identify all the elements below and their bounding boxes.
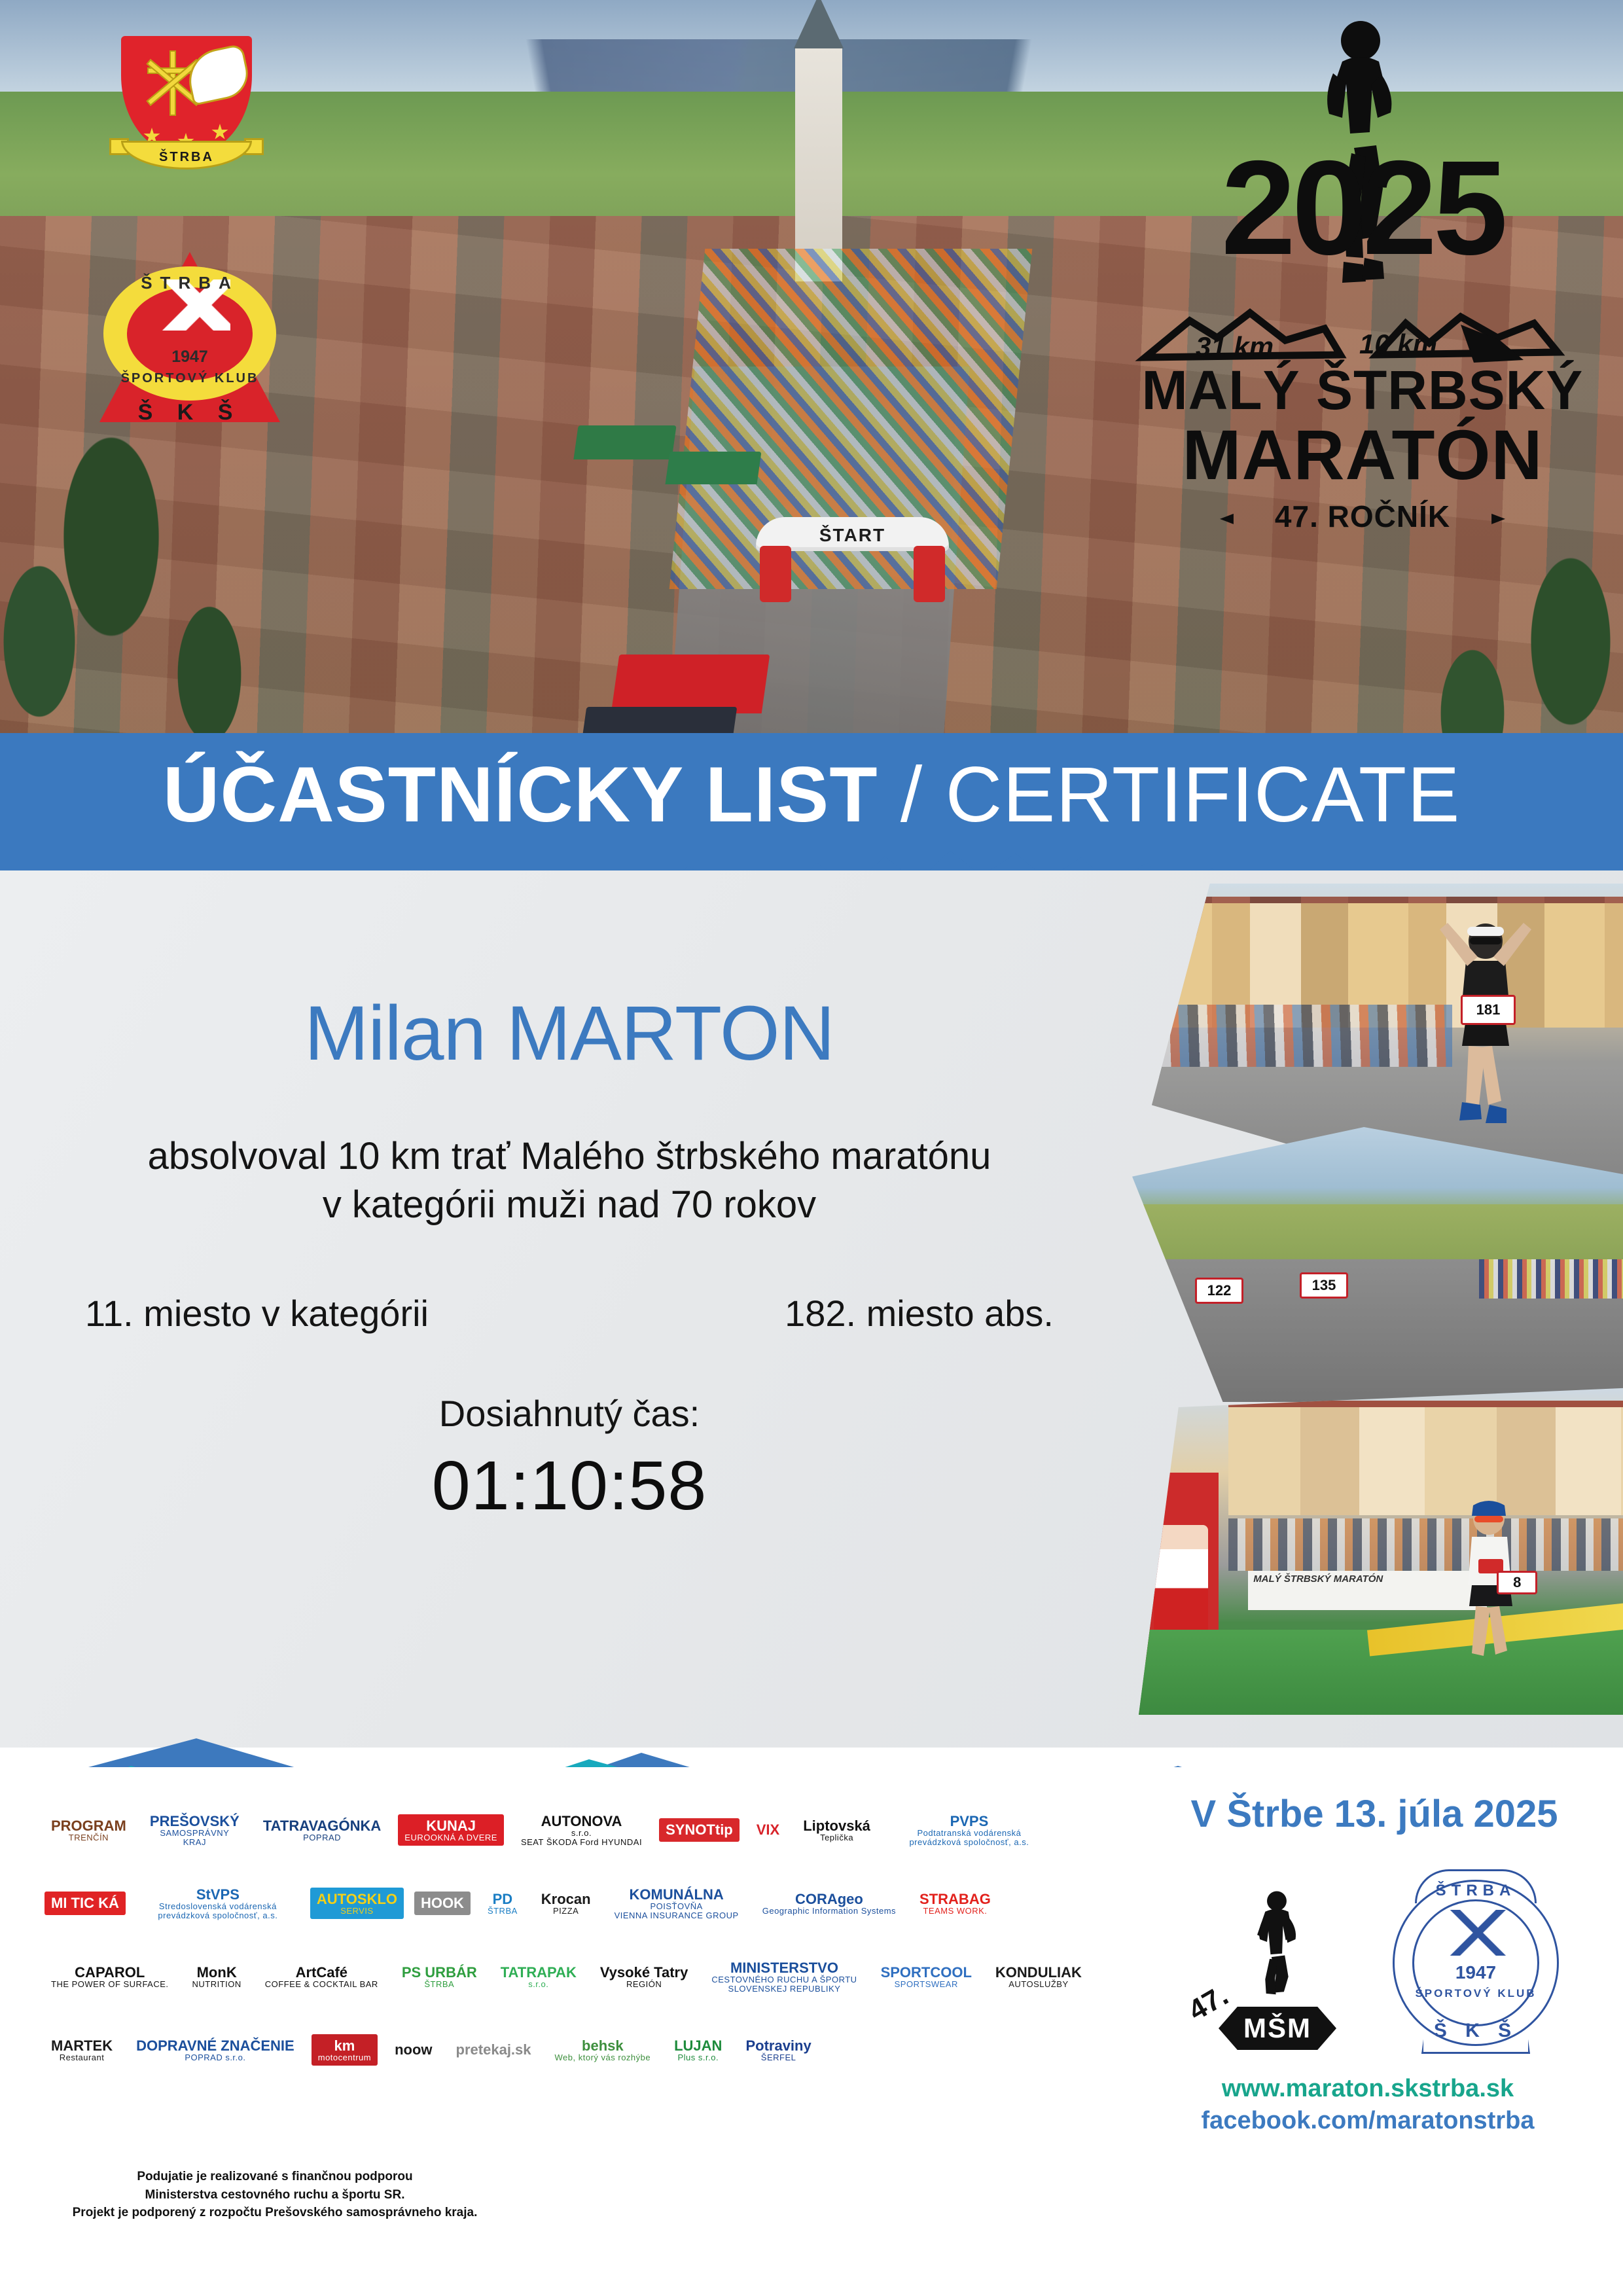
certificate-description: absolvoval 10 km trať Malého štrbského m… (0, 1132, 1139, 1229)
sponsor-name: VIX (757, 1822, 779, 1837)
distance-short-label: 10 km (1359, 329, 1437, 360)
sponsor-name: SYNOTtip (666, 1822, 733, 1837)
sks-club-logo: ŠTRBA 1947 ŠPORTOVÝ KLUB Š K Š (98, 232, 281, 435)
sponsor-tagline: SERVIS (317, 1907, 397, 1916)
facebook-link[interactable]: facebook.com/maratonstrba (1152, 2107, 1584, 2135)
sponsor-logo: MonKNUTRITION (186, 1943, 248, 2011)
arch-leg-left (760, 546, 791, 602)
sponsor-logo: PROGRAMTRENČÍN (45, 1796, 133, 1864)
club-year-label: 1947 (98, 348, 281, 367)
sponsor-logo: KONDULIAKAUTOSLUŽBY (989, 1943, 1088, 2011)
crest-shield (121, 36, 252, 154)
arrow-left-icon (1220, 514, 1266, 524)
sponsor-name: HOOK (421, 1895, 464, 1910)
stamp-top-arc: ŠTRBA (1415, 1869, 1537, 1903)
sponsor-name: PREŠOVSKÝ (150, 1814, 240, 1829)
sponsor-tagline: EUROOKNÁ A DVERE (404, 1833, 497, 1842)
sponsor-tagline: SAMOSPRÁVNY (150, 1829, 240, 1838)
sponsor-name: LUJAN (674, 2038, 722, 2053)
sponsor-logo: TATRAPAKs.r.o. (494, 1943, 583, 2011)
female-runner-figure (1433, 915, 1538, 1151)
footer: PROGRAMTRENČÍNPREŠOVSKÝSAMOSPRÁVNYKRAJTA… (0, 1767, 1623, 2296)
sponsor-name: MINISTERSTVO (711, 1960, 857, 1975)
club-bottom-label: ŠPORTOVÝ KLUB (98, 371, 281, 386)
sponsor-name: SPORTCOOL (881, 1965, 972, 1980)
sponsor-name: MonK (192, 1965, 241, 1980)
event-year: 2025 (1133, 151, 1592, 266)
event-title-line1: MALÝ ŠTRBSKÝ (1133, 359, 1592, 422)
msm-runner-icon (1222, 1872, 1334, 2009)
contact-links: www.maraton.skstrba.sk facebook.com/mara… (1152, 2075, 1584, 2135)
sponsor-logo: VIX (750, 1796, 786, 1864)
disclaimer-line-2: Ministerstva cestovného ruchu a športu S… (46, 2186, 504, 2204)
participant-name: Milan MARTON (0, 995, 1139, 1072)
finish-time: 01:10:58 (0, 1446, 1139, 1526)
strba-coat-of-arms: ŠTRBA (111, 36, 262, 219)
sponsor-tagline: s.r.o. (521, 1829, 642, 1838)
sponsor-logo: TATRAVAGÓNKAPOPRAD (257, 1796, 387, 1864)
sponsor-name: TATRAVAGÓNKA (263, 1818, 381, 1833)
sponsor-logo: PS URBÁRŠTRBA (395, 1943, 484, 2011)
sponsor-name: KONDULIAK (995, 1965, 1082, 1980)
sponsor-subtagline: VIENNA INSURANCE GROUP (615, 1911, 739, 1920)
sponsor-tagline: SPORTSWEAR (881, 1980, 972, 1989)
sponsor-name: MARTEK (51, 2038, 113, 2053)
sponsor-name: PD (488, 1892, 518, 1907)
stamp-mountain-icon (1443, 1910, 1508, 1956)
sponsor-logo: behskWeb, ktorý vás rozhýbe (548, 2016, 658, 2084)
sponsor-name: MI TIC KÁ (51, 1895, 119, 1910)
sponsor-logo: KOMUNÁLNAPOISŤOVŇAVIENNA INSURANCE GROUP (608, 1869, 745, 1937)
sponsor-logo: ArtCaféCOFFEE & COCKTAIL BAR (259, 1943, 385, 2011)
sponsor-name: Krocan (541, 1892, 591, 1907)
church-spire (794, 0, 844, 48)
msm-stamp-mark: MŠM (1219, 2007, 1336, 2050)
sponsor-tagline: Geographic Information Systems (762, 1907, 896, 1916)
club-top-label: ŠTRBA (98, 273, 281, 293)
funding-disclaimer: Podujatie je realizované s finančnou pod… (46, 2168, 504, 2222)
collage-bib-181: 181 (1461, 995, 1516, 1025)
disclaimer-line-3: Projekt je podporený z rozpočtu Prešovsk… (46, 2204, 504, 2222)
title-light: CERTIFICATE (946, 751, 1461, 838)
sponsor-logo: MI TIC KÁ (45, 1869, 126, 1937)
photo2-runner-pack (1479, 1259, 1623, 1299)
sponsor-logo: KrocanPIZZA (535, 1869, 597, 1937)
sponsor-tagline: Plus s.r.o. (674, 2053, 722, 2062)
event-title-line2: MARATÓN (1133, 414, 1592, 495)
sponsor-tagline: Stredoslovenská vodárenská prevádzková s… (143, 1902, 293, 1920)
sponsor-logo: DOPRAVNÉ ZNAČENIEPOPRAD s.r.o. (130, 2016, 301, 2084)
sponsor-name: ArtCafé (265, 1965, 378, 1980)
stamp-year-label: 1947 (1381, 1962, 1571, 1983)
sponsor-logo: CAPAROLTHE POWER OF SURFACE. (45, 1943, 175, 2011)
sponsor-tagline: Podtatranská vodárenská prevádzková spol… (894, 1829, 1044, 1846)
event-edition: 47. ROČNÍK (1133, 499, 1592, 534)
sponsor-name: pretekaj.sk (456, 2042, 531, 2057)
collage-photo-winner: MALÝ ŠTRBSKÝ MARATÓN 8 (1139, 1388, 1623, 1715)
stamp-club-label: ŠPORTOVÝ KLUB (1381, 1987, 1571, 2000)
sponsor-logo: LUJANPlus s.r.o. (668, 2016, 728, 2084)
rank-row: 11. miesto v kategórii 182. miesto abs. (0, 1292, 1139, 1335)
sponsor-tagline: POISŤOVŇA (615, 1902, 739, 1911)
page-title: ÚČASTNÍCKY LIST / CERTIFICATE (0, 755, 1623, 834)
sponsor-name: PROGRAM (51, 1818, 126, 1833)
sponsor-name: STRABAG (919, 1892, 991, 1907)
sponsor-tagline: AUTOSLUŽBY (995, 1980, 1082, 1989)
tent-green-1 (573, 425, 676, 459)
arrow-right-icon (1459, 514, 1505, 524)
sponsor-logo: PREŠOVSKÝSAMOSPRÁVNYKRAJ (143, 1796, 246, 1864)
sponsor-logo: PVPSPodtatranská vodárenská prevádzková … (887, 1796, 1051, 1864)
sponsor-logo: noow (388, 2016, 438, 2084)
sponsor-name: CAPAROL (51, 1965, 169, 1980)
sponsor-name: PS URBÁR (402, 1965, 477, 1980)
sponsor-subtagline: SLOVENSKEJ REPUBLIKY (711, 1984, 857, 1994)
photo-collage: 181 122 135 MALÝ ŠTRBSKÝ MARATÓN (1126, 884, 1623, 1715)
stamp-footer-shape: Š K Š (1421, 2005, 1530, 2054)
sponsor-tagline: motocentrum (318, 2053, 371, 2062)
sponsor-logo: CORAgeoGeographic Information Systems (756, 1869, 902, 1937)
start-arch: ŠTART (756, 517, 949, 602)
distance-long-label: 31 km (1196, 331, 1274, 363)
sponsor-logo: PotravinyŠERFEL (739, 2016, 817, 2084)
sponsor-tagline: COFFEE & COCKTAIL BAR (265, 1980, 378, 1989)
sks-club-stamp: ŠTRBA 1947 ŠPORTOVÝ KLUB Š K Š (1381, 1865, 1571, 2062)
description-line-1: absolvoval 10 km trať Malého štrbského m… (0, 1132, 1139, 1181)
certificate-content: Milan MARTON absolvoval 10 km trať Maléh… (0, 995, 1139, 1526)
event-logo: 2025 31 km 10 km MALÝ ŠTRBSKÝ MARATÓN 47… (1133, 13, 1592, 602)
official-stamps: 47. MŠM ŠTRBA 1947 ŠPORTOVÝ KLUB Š K Š (1165, 1865, 1584, 2062)
sponsor-tagline: THE POWER OF SURFACE. (51, 1980, 169, 1989)
rank-absolute: 182. miesto abs. (785, 1292, 1054, 1335)
sponsor-logo: AUTONOVAs.r.o.SEAT ŠKODA Ford HYUNDAI (514, 1796, 649, 1864)
disclaimer-line-1: Podujatie je realizované s finančnou pod… (46, 2168, 504, 2186)
description-line-2: v kategórii muži nad 70 rokov (0, 1181, 1139, 1229)
sponsor-tagline: ŠTRBA (488, 1907, 518, 1916)
photo3-crowd (1228, 1518, 1623, 1571)
sponsor-tagline: Restaurant (51, 2053, 113, 2062)
sponsor-tagline: TRENČÍN (51, 1833, 126, 1842)
sponsor-tagline: POPRAD (263, 1833, 381, 1842)
sponsor-subtagline: KRAJ (150, 1838, 240, 1847)
sponsor-name: KOMUNÁLNA (615, 1887, 739, 1902)
sponsor-logo: Vysoké TatryREGIÓN (594, 1943, 695, 2011)
rank-category: 11. miesto v kategórii (85, 1292, 429, 1335)
sponsor-tagline: ŠTRBA (402, 1980, 477, 1989)
sponsor-name: Potraviny (745, 2038, 811, 2053)
stamp-top-label: ŠTRBA (1417, 1882, 1535, 1900)
sponsor-name: CORAgeo (762, 1892, 896, 1907)
crest-village-label: ŠTRBA (123, 150, 250, 165)
club-initials-label: Š K Š (98, 400, 281, 425)
edition-label: 47. ROČNÍK (1275, 499, 1450, 533)
sponsor-logo: StVPSStredoslovenská vodárenská prevádzk… (136, 1869, 300, 1937)
issue-date: V Štrbe 13. júla 2025 (1165, 1792, 1584, 1836)
sponsor-name: TATRAPAK (501, 1965, 577, 1980)
sponsor-name: Liptovská (803, 1818, 870, 1833)
title-bold: ÚČASTNÍCKY LIST (163, 751, 878, 838)
sponsor-tagline: NUTRITION (192, 1980, 241, 1989)
photo3-banner-text: MALÝ ŠTRBSKÝ MARATÓN (1253, 1573, 1383, 1585)
sponsor-logo: LiptovskáTeplička (796, 1796, 877, 1864)
collage-bib-135: 135 (1300, 1272, 1348, 1299)
sponsor-tagline: ŠERFEL (745, 2053, 811, 2062)
sponsor-name: DOPRAVNÉ ZNAČENIE (136, 2038, 294, 2053)
sponsor-name: AUTOSKLO (317, 1892, 397, 1907)
sponsor-name: behsk (555, 2038, 651, 2053)
sponsor-logo: HOOK (414, 1869, 471, 1937)
sponsor-tagline: Web, ktorý vás rozhýbe (555, 2053, 651, 2062)
sponsor-tagline: POPRAD s.r.o. (136, 2053, 294, 2062)
msm-stamp: 47. MŠM (1185, 1872, 1348, 2055)
arch-leg-right (914, 546, 945, 602)
stamp-initials-label: Š K Š (1423, 2020, 1528, 2042)
sponsor-name: Vysoké Tatry (600, 1965, 688, 1980)
sponsor-logo: KUNAJEUROOKNÁ A DVERE (398, 1796, 504, 1864)
sponsor-name: PVPS (894, 1814, 1044, 1829)
sponsor-tagline: REGIÓN (600, 1980, 688, 1989)
ribbon-band: ŠTRBA (121, 141, 252, 170)
collage-photo-runners: 122 135 (1132, 1127, 1623, 1402)
collage-bib-122: 122 (1195, 1278, 1243, 1304)
website-link[interactable]: www.maraton.skstrba.sk (1152, 2075, 1584, 2103)
photo1-spectators (1152, 1005, 1452, 1077)
crest-ribbon: ŠTRBA (113, 137, 260, 176)
sponsor-name: StVPS (143, 1887, 293, 1902)
sponsor-logo: pretekaj.sk (450, 2016, 538, 2084)
sponsor-logo: SYNOTtip (659, 1796, 740, 1864)
sponsor-name: AUTONOVA (521, 1814, 642, 1829)
sponsor-logo: MARTEKRestaurant (45, 2016, 119, 2084)
church-building (795, 46, 842, 281)
time-label: Dosiahnutý čas: (0, 1392, 1139, 1435)
sponsor-logo: MINISTERSTVOCESTOVNÉHO RUCHU A ŠPORTUSLO… (705, 1943, 863, 2011)
sponsor-tagline: PIZZA (541, 1907, 591, 1916)
sponsor-logo: kmmotocentrum (312, 2016, 378, 2084)
sponsor-tagline: s.r.o. (501, 1980, 577, 1989)
sponsor-name: km (318, 2038, 371, 2053)
tent-red (611, 655, 770, 713)
sponsor-logo: PDŠTRBA (481, 1869, 524, 1937)
start-arch-label: ŠTART (756, 525, 949, 546)
sponsor-logo: AUTOSKLOSERVIS (310, 1869, 404, 1937)
sponsor-tagline: TEAMS WORK. (919, 1907, 991, 1916)
title-separator: / (878, 751, 946, 838)
collage-bib-8: 8 (1497, 1571, 1537, 1594)
sponsor-name: noow (395, 2042, 432, 2057)
sponsor-logo: SPORTCOOLSPORTSWEAR (874, 1943, 978, 2011)
tent-green-2 (665, 452, 761, 484)
sponsor-name: KUNAJ (404, 1818, 497, 1833)
sponsor-tagline: Teplička (803, 1833, 870, 1842)
sponsor-logo: STRABAGTEAMS WORK. (913, 1869, 997, 1937)
sponsor-subtagline: SEAT ŠKODA Ford HYUNDAI (521, 1838, 642, 1847)
photo3-building (1228, 1407, 1623, 1515)
sponsor-tagline: CESTOVNÉHO RUCHU A ŠPORTU (711, 1975, 857, 1984)
sponsor-logo-grid: PROGRAMTRENČÍNPREŠOVSKÝSAMOSPRÁVNYKRAJTA… (39, 1793, 1139, 2087)
